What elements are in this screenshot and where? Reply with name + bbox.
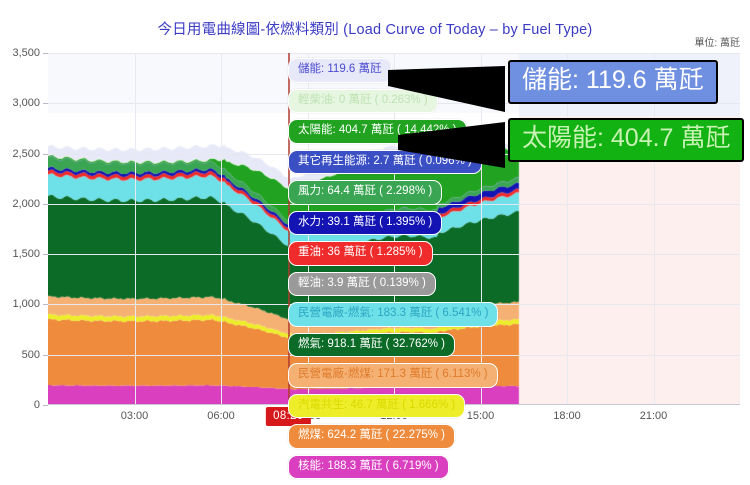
y-axis-tick bbox=[43, 355, 48, 356]
legend-item-11[interactable]: 民營電廠-燃煤: 171.3 萬瓩 ( 6.113% ) bbox=[288, 363, 498, 388]
legend-item-1[interactable]: 儲能: 119.6 萬瓩 bbox=[288, 58, 392, 83]
callout-storage: 儲能: 119.6 萬瓩 bbox=[508, 60, 718, 104]
legend-item-13[interactable]: 燃煤: 624.2 萬瓩 ( 22.275% ) bbox=[288, 424, 455, 449]
x-axis-tick-label: 18:00 bbox=[553, 410, 581, 422]
x-axis-tick-label: 03:00 bbox=[121, 410, 149, 422]
legend[interactable]: 儲能: 119.6 萬瓩輕柴油: 0 萬瓩 ( 0.263% )太陽能: 404… bbox=[288, 58, 518, 485]
y-axis-tick-label: 2,000 bbox=[0, 198, 40, 210]
gridline-v bbox=[654, 53, 655, 405]
y-axis-tick bbox=[43, 204, 48, 205]
y-axis-tick bbox=[43, 53, 48, 54]
y-axis-tick-label: 3,000 bbox=[0, 97, 40, 109]
y-axis-tick bbox=[43, 103, 48, 104]
gridline-v bbox=[135, 53, 136, 405]
legend-item-7[interactable]: 重油: 36 萬瓩 ( 1.285% ) bbox=[288, 241, 433, 266]
callout-solar: 太陽能: 404.7 萬瓩 bbox=[508, 118, 744, 162]
legend-item-14[interactable]: 核能: 188.3 萬瓩 ( 6.719% ) bbox=[288, 455, 449, 480]
y-axis-tick-label: 3,500 bbox=[0, 47, 40, 59]
y-axis-tick bbox=[43, 405, 48, 406]
legend-item-2[interactable]: 輕柴油: 0 萬瓩 ( 0.263% ) bbox=[288, 89, 438, 114]
y-axis-tick bbox=[43, 304, 48, 305]
y-axis-tick-label: 1,500 bbox=[0, 248, 40, 260]
legend-item-3[interactable]: 太陽能: 404.7 萬瓩 ( 14.442% ) bbox=[288, 119, 467, 144]
y-axis-tick-label: 0 bbox=[0, 399, 40, 411]
page-title: 今日用電曲線圖-依燃料類別 (Load Curve of Today – by … bbox=[0, 18, 750, 39]
gridline-v bbox=[567, 53, 568, 405]
legend-item-5[interactable]: 風力: 64.4 萬瓩 ( 2.298% ) bbox=[288, 180, 442, 205]
unit-label: 單位: 萬瓩 bbox=[694, 34, 740, 49]
y-axis-tick-label: 2,500 bbox=[0, 148, 40, 160]
y-axis-tick bbox=[43, 254, 48, 255]
x-axis-tick-label: 06:00 bbox=[207, 410, 235, 422]
gridline-v bbox=[221, 53, 222, 405]
y-axis-tick bbox=[43, 154, 48, 155]
legend-item-9[interactable]: 民營電廠-燃氣: 183.3 萬瓩 ( 6.541% ) bbox=[288, 302, 498, 327]
legend-item-10[interactable]: 燃氣: 918.1 萬瓩 ( 32.762% ) bbox=[288, 333, 455, 358]
legend-item-4[interactable]: 其它再生能源: 2.7 萬瓩 ( 0.096% ) bbox=[288, 150, 482, 175]
legend-item-8[interactable]: 輕油: 3.9 萬瓩 ( 0.139% ) bbox=[288, 272, 436, 297]
y-axis-tick-label: 1,000 bbox=[0, 298, 40, 310]
legend-item-12[interactable]: 汽電共生: 46.7 萬瓩 ( 1.666% ) bbox=[288, 394, 465, 419]
x-axis-tick-label: 21:00 bbox=[640, 410, 668, 422]
load-curve-chart: 今日用電曲線圖-依燃料類別 (Load Curve of Today – by … bbox=[0, 0, 750, 437]
y-axis-tick-label: 500 bbox=[0, 349, 40, 361]
legend-item-6[interactable]: 水力: 39.1 萬瓩 ( 1.395% ) bbox=[288, 211, 442, 236]
